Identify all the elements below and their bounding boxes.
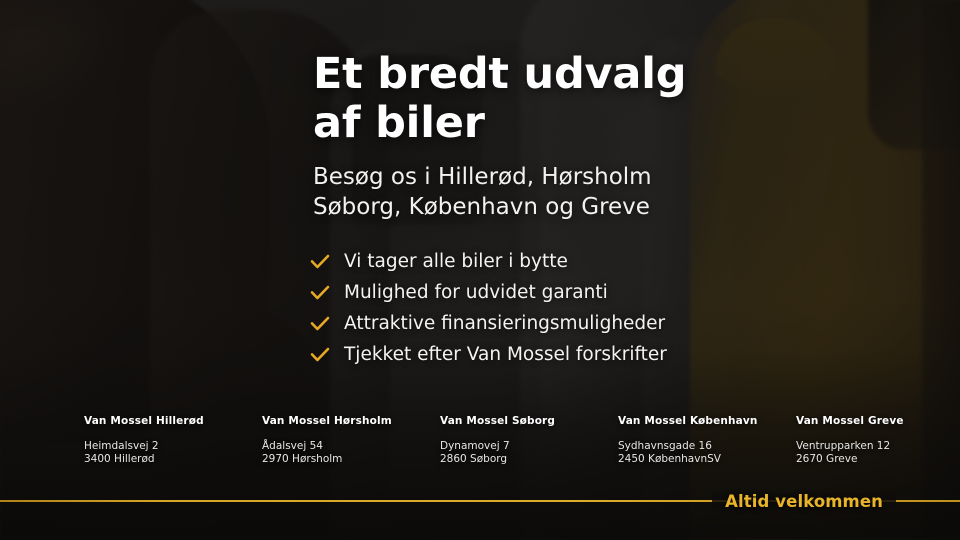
dealer-address: Heimdalsvej 2 3400 Hillerød xyxy=(84,440,262,466)
list-item: Mulighed for udvidet garanti xyxy=(308,277,908,308)
list-item: Attraktive finansieringsmuligheder xyxy=(308,308,908,339)
list-item-label: Tjekket efter Van Mossel forskrifter xyxy=(344,339,667,370)
list-item-label: Vi tager alle biler i bytte xyxy=(344,246,568,277)
dealer-locations: Van Mossel Hillerød Heimdalsvej 2 3400 H… xyxy=(84,414,894,466)
page-title: Et bredt udvalg af biler xyxy=(313,50,873,148)
check-icon xyxy=(308,285,344,301)
slide-content: Et bredt udvalg af biler Besøg os i Hill… xyxy=(0,0,960,540)
dealer-address: Ventrupparken 12 2670 Greve xyxy=(796,440,956,466)
check-icon xyxy=(308,347,344,363)
benefits-list: Vi tager alle biler i bytte Mulighed for… xyxy=(308,246,908,370)
dealer-card: Van Mossel Hørsholm Ådalsvej 54 2970 Hør… xyxy=(262,414,440,466)
list-item: Vi tager alle biler i bytte xyxy=(308,246,908,277)
dealer-address: Dynamovej 7 2860 Søborg xyxy=(440,440,618,466)
check-icon xyxy=(308,316,344,332)
dealer-name: Van Mossel København xyxy=(618,414,796,428)
footer-tagline: Altid velkommen xyxy=(712,491,896,512)
dealer-name: Van Mossel Hørsholm xyxy=(262,414,440,428)
dealer-card: Van Mossel København Sydhavnsgade 16 245… xyxy=(618,414,796,466)
dealer-address: Ådalsvej 54 2970 Hørsholm xyxy=(262,440,440,466)
check-icon xyxy=(308,254,344,270)
dealer-card: Van Mossel Søborg Dynamovej 7 2860 Søbor… xyxy=(440,414,618,466)
dealer-address: Sydhavnsgade 16 2450 KøbenhavnSV xyxy=(618,440,796,466)
dealer-name: Van Mossel Hillerød xyxy=(84,414,262,428)
dealer-card: Van Mossel Hillerød Heimdalsvej 2 3400 H… xyxy=(84,414,262,466)
dealer-card: Van Mossel Greve Ventrupparken 12 2670 G… xyxy=(796,414,956,466)
list-item-label: Attraktive finansieringsmuligheder xyxy=(344,308,665,339)
page-subtitle: Besøg os i Hillerød, Hørsholm Søborg, Kø… xyxy=(313,162,873,222)
dealer-name: Van Mossel Søborg xyxy=(440,414,618,428)
list-item-label: Mulighed for udvidet garanti xyxy=(344,277,608,308)
list-item: Tjekket efter Van Mossel forskrifter xyxy=(308,339,908,370)
dealer-name: Van Mossel Greve xyxy=(796,414,956,428)
promo-slide: Et bredt udvalg af biler Besøg os i Hill… xyxy=(0,0,960,540)
